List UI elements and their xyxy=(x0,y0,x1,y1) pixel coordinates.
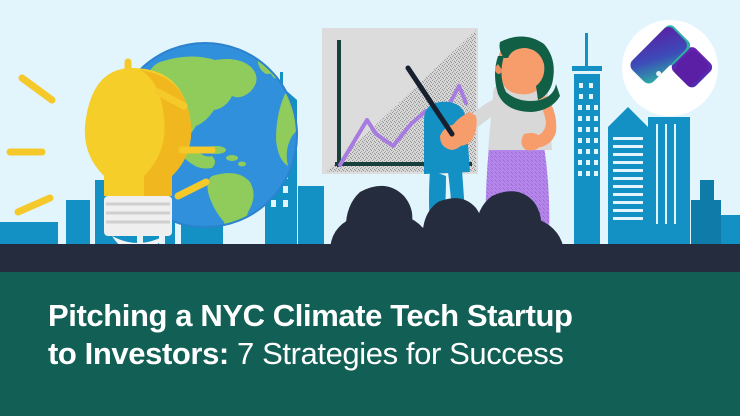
blog-header-banner: Pitching a NYC Climate Tech Startup to I… xyxy=(0,0,740,416)
title-line-1-text: Pitching a NYC Climate Tech Startup xyxy=(48,298,573,333)
page-title: Pitching a NYC Climate Tech Startup to I… xyxy=(48,297,708,373)
title-line-2-regular-text: 7 Strategies for Success xyxy=(229,336,564,371)
brand-logo[interactable] xyxy=(622,20,718,116)
title-line-2: to Investors: 7 Strategies for Success xyxy=(48,335,708,373)
title-line-1: Pitching a NYC Climate Tech Startup xyxy=(48,297,708,335)
title-line-2-bold-text: to Investors: xyxy=(48,336,229,371)
